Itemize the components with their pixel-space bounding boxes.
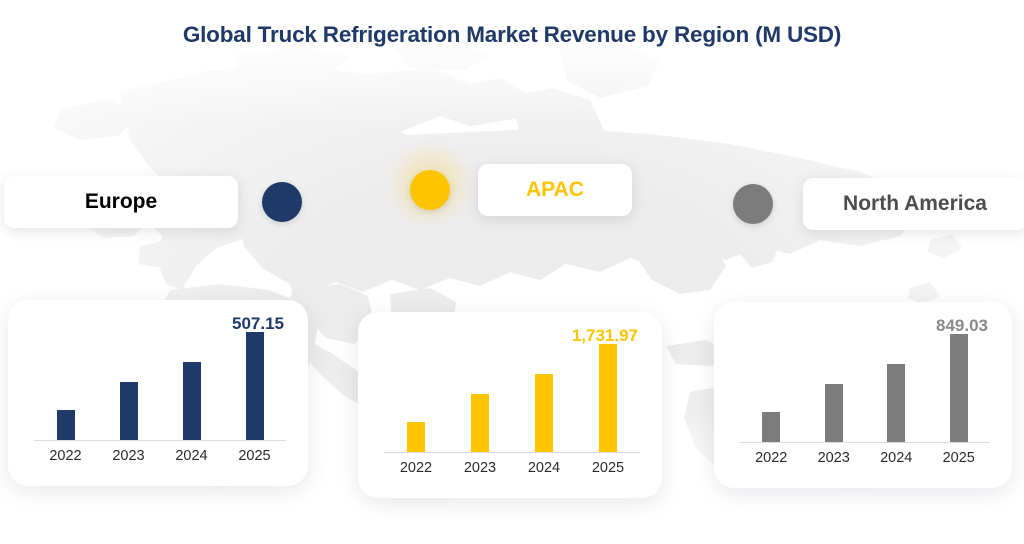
tick-north-america-2025: 2025: [928, 450, 991, 466]
bar-slot: [448, 330, 512, 452]
bar-slot: [803, 320, 866, 442]
bar-north-america-2025[interactable]: [950, 334, 968, 442]
bar-apac-2025[interactable]: [599, 344, 617, 452]
x-axis-line-europe: [34, 440, 286, 441]
bar-slot: [928, 320, 991, 442]
chart-card-apac: 1,731.97 2022 2023 2024 2025: [358, 312, 662, 498]
chart-card-europe: 507.15 2022 2023 2024 2025: [8, 300, 308, 486]
region-marker-apac[interactable]: APAC: [410, 164, 632, 216]
bar-group-europe: [34, 318, 286, 440]
bar-europe-2022[interactable]: [57, 410, 75, 440]
bar-group-north-america: [740, 320, 990, 442]
region-dot-north-america-icon: [733, 184, 773, 224]
bar-north-america-2022[interactable]: [762, 412, 780, 442]
tick-north-america-2024: 2024: [865, 450, 928, 466]
chart-plot-north-america: 849.03 2022 2023 2024 2025: [740, 316, 990, 474]
bar-slot: [223, 318, 286, 440]
tick-apac-2025: 2025: [576, 460, 640, 476]
x-tick-labels-north-america: 2022 2023 2024 2025: [740, 446, 990, 470]
region-label-europe: Europe: [85, 190, 157, 214]
tick-europe-2024: 2024: [160, 448, 223, 464]
chart-plot-europe: 507.15 2022 2023 2024 2025: [34, 314, 286, 472]
tick-north-america-2023: 2023: [803, 450, 866, 466]
tick-europe-2025: 2025: [223, 448, 286, 464]
region-dot-apac-icon: [410, 170, 450, 210]
bar-slot: [576, 330, 640, 452]
bar-slot: [34, 318, 97, 440]
bar-north-america-2023[interactable]: [825, 384, 843, 442]
region-label-card-europe[interactable]: Europe: [4, 176, 238, 228]
bar-slot: [865, 320, 928, 442]
region-dot-europe-icon: [262, 182, 302, 222]
tick-europe-2022: 2022: [34, 448, 97, 464]
bar-group-apac: [384, 330, 640, 452]
region-label-north-america: North America: [843, 192, 987, 216]
region-label-card-apac[interactable]: APAC: [478, 164, 632, 216]
infographic-canvas: Global Truck Refrigeration Market Revenu…: [0, 0, 1024, 544]
bar-apac-2024[interactable]: [535, 374, 553, 452]
page-title: Global Truck Refrigeration Market Revenu…: [0, 22, 1024, 48]
tick-europe-2023: 2023: [97, 448, 160, 464]
bar-slot: [97, 318, 160, 440]
x-axis-line-apac: [384, 452, 640, 453]
chart-card-north-america: 849.03 2022 2023 2024 2025: [714, 302, 1012, 488]
tick-apac-2022: 2022: [384, 460, 448, 476]
bar-slot: [384, 330, 448, 452]
bar-europe-2024[interactable]: [183, 362, 201, 440]
region-marker-europe[interactable]: Europe: [4, 176, 302, 228]
region-label-apac: APAC: [526, 178, 584, 202]
x-axis-line-north-america: [740, 442, 990, 443]
tick-apac-2024: 2024: [512, 460, 576, 476]
x-tick-labels-europe: 2022 2023 2024 2025: [34, 444, 286, 468]
tick-north-america-2022: 2022: [740, 450, 803, 466]
bar-apac-2022[interactable]: [407, 422, 425, 452]
bar-slot: [512, 330, 576, 452]
region-label-card-north-america[interactable]: North America: [803, 178, 1024, 230]
bar-north-america-2024[interactable]: [887, 364, 905, 442]
bar-slot: [160, 318, 223, 440]
bar-europe-2025[interactable]: [246, 332, 264, 440]
bar-slot: [740, 320, 803, 442]
region-marker-north-america[interactable]: North America: [733, 178, 1024, 230]
bar-apac-2023[interactable]: [471, 394, 489, 452]
tick-apac-2023: 2023: [448, 460, 512, 476]
x-tick-labels-apac: 2022 2023 2024 2025: [384, 456, 640, 480]
bar-europe-2023[interactable]: [120, 382, 138, 440]
chart-plot-apac: 1,731.97 2022 2023 2024 2025: [384, 326, 640, 484]
